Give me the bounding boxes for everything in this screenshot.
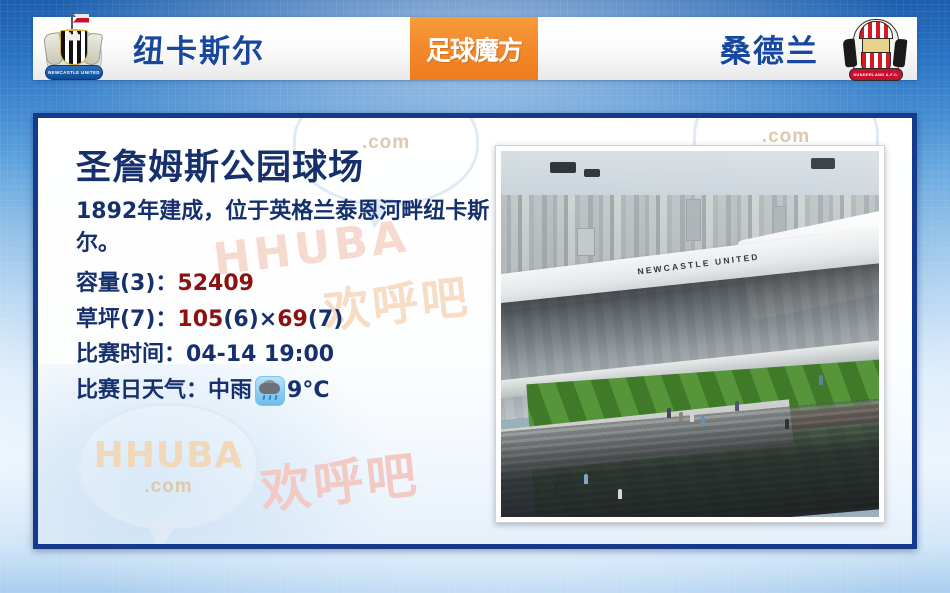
capacity-value: 52409 xyxy=(177,266,254,302)
pitch-times-symbol: × xyxy=(259,302,277,338)
pitch-width: 69 xyxy=(277,302,308,338)
match-weather-value: 中雨 xyxy=(208,373,252,409)
site-logo-text: 足球魔方 xyxy=(426,30,522,68)
away-team-name: 桑德兰 xyxy=(720,26,819,71)
stadium-photo: NEWCASTLE UNITED xyxy=(501,151,879,517)
page-background: NEWCASTLE UNITED 纽卡斯尔 足球魔方 桑德兰 SUNDERLAN… xyxy=(0,0,950,593)
pitch-width-rank: (7) xyxy=(308,302,343,338)
stadium-description: 1892年建成，位于英格兰泰恩河畔纽卡斯尔。 xyxy=(76,196,506,260)
watermark-brand-latin: HHUBA xyxy=(94,435,244,476)
home-team-block: NEWCASTLE UNITED 纽卡斯尔 xyxy=(33,17,410,81)
match-weather-label: 比赛日天气： xyxy=(76,373,208,409)
stadium-photo-frame: NEWCASTLE UNITED xyxy=(495,145,885,523)
stadium-title: 圣詹姆斯公园球场 xyxy=(76,148,506,188)
watermark-domain: .com xyxy=(144,476,192,498)
pitch-length: 105 xyxy=(177,302,223,338)
away-team-block: 桑德兰 SUNDERLAND A.F.C. xyxy=(538,17,917,81)
sunderland-afc-crest: SUNDERLAND A.F.C. xyxy=(845,17,905,81)
match-weather-row: 比赛日天气： 中雨 9°C xyxy=(76,373,506,409)
capacity-row: 容量(3)： 52409 xyxy=(76,266,506,302)
stadium-info: 圣詹姆斯公园球场 1892年建成，位于英格兰泰恩河畔纽卡斯尔。 容量(3)： 5… xyxy=(76,148,506,409)
rain-cloud-icon xyxy=(255,376,285,406)
newcastle-united-crest: NEWCASTLE UNITED xyxy=(43,17,103,81)
watermark-bubble-bottom: HHUBA .com xyxy=(78,403,259,529)
match-time-row: 比赛时间： 04-14 19:00 xyxy=(76,337,506,373)
crest-ribbon-label: NEWCASTLE UNITED xyxy=(45,65,103,80)
crest-ribbon-label: SUNDERLAND A.F.C. xyxy=(849,68,903,81)
pitch-row: 草坪(7)： 105 (6) × 69 (7) xyxy=(76,302,506,338)
match-header: NEWCASTLE UNITED 纽卡斯尔 足球魔方 桑德兰 SUNDERLAN… xyxy=(33,17,917,80)
stadium-info-card: .com .com HHUBA .com 欢呼吧 HHUBA 欢呼吧 圣詹姆斯公… xyxy=(33,113,917,549)
match-time-label: 比赛时间： xyxy=(76,337,186,373)
match-time-value: 04-14 19:00 xyxy=(186,337,334,373)
capacity-label: 容量(3)： xyxy=(76,266,177,302)
watermark-brand-cn: 欢呼吧 xyxy=(257,435,423,523)
pitch-length-rank: (6) xyxy=(223,302,258,338)
home-team-name: 纽卡斯尔 xyxy=(133,26,265,71)
match-temperature: 9°C xyxy=(287,373,329,409)
pitch-label: 草坪(7)： xyxy=(76,302,177,338)
site-logo[interactable]: 足球魔方 xyxy=(410,17,538,80)
